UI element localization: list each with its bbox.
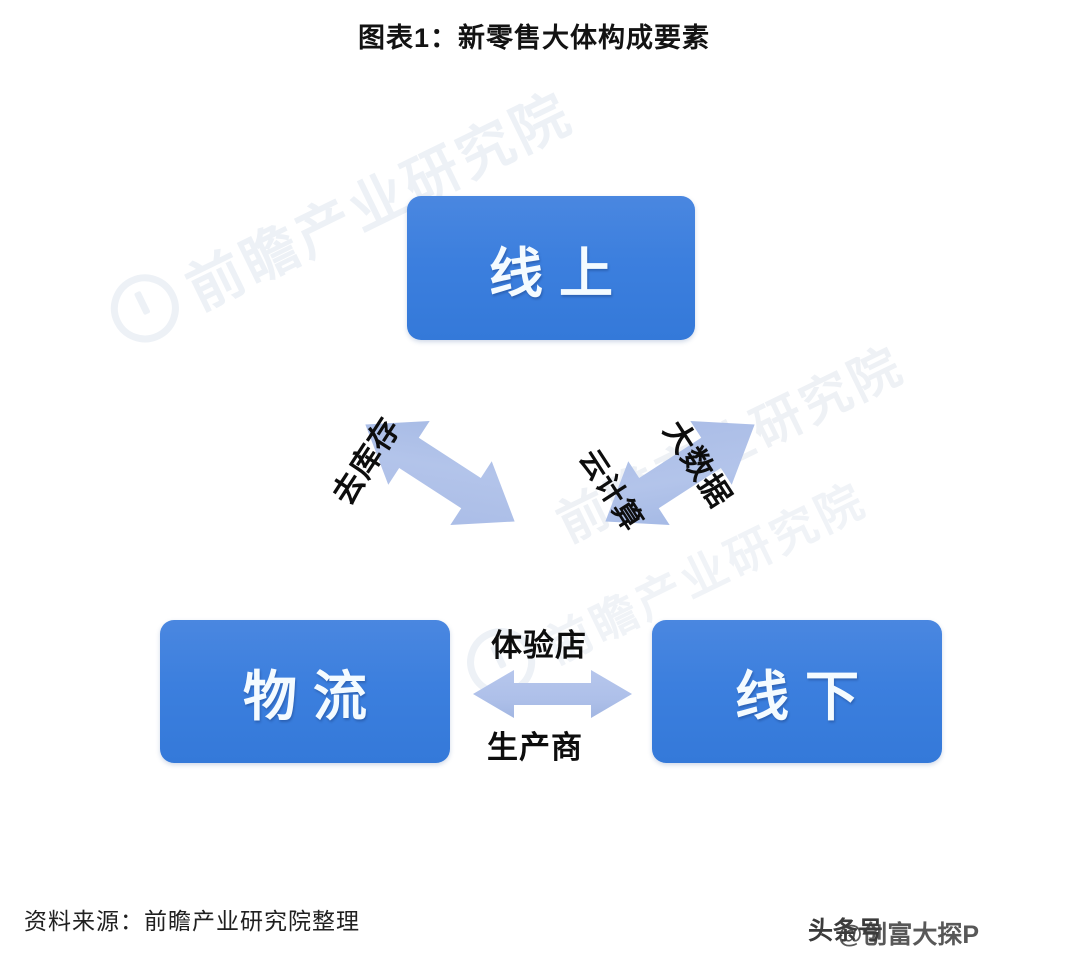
page-title: 图表1：新零售大体构成要素 [0, 16, 1068, 55]
figure-canvas: 图表1：新零售大体构成要素 前瞻产业研究院 前瞻产业研究院 前瞻产业研究院 [0, 0, 1068, 966]
node-label-offline: 线下 [719, 652, 875, 731]
node-box-online[interactable]: 线上 [407, 196, 695, 340]
connector-label-manufacturer: 生产商 [487, 722, 583, 767]
node-box-logistics[interactable]: 物流 [160, 620, 450, 763]
node-box-offline[interactable]: 线下 [652, 620, 942, 763]
node-label-logistics: 物流 [227, 652, 383, 731]
connector-label-destock: 去库存 [319, 407, 409, 512]
connector-label-big-data: 大数据 [655, 410, 745, 515]
footer-watermark: 头条号 @创富大探P [804, 905, 1054, 955]
source-note: 资料来源：前瞻产业研究院整理 [24, 902, 360, 936]
connector-logistics-offline [470, 665, 635, 723]
node-label-online: 线上 [473, 229, 629, 308]
connector-label-experience-store: 体验店 [491, 620, 587, 665]
connector-label-cloud-computing: 云计算 [571, 440, 655, 538]
watermark-institute-right: 前瞻产业研究院 [543, 326, 914, 556]
watermark-logo-icon [99, 263, 190, 354]
footer-watermark-secondary: @创富大探P [838, 915, 979, 951]
